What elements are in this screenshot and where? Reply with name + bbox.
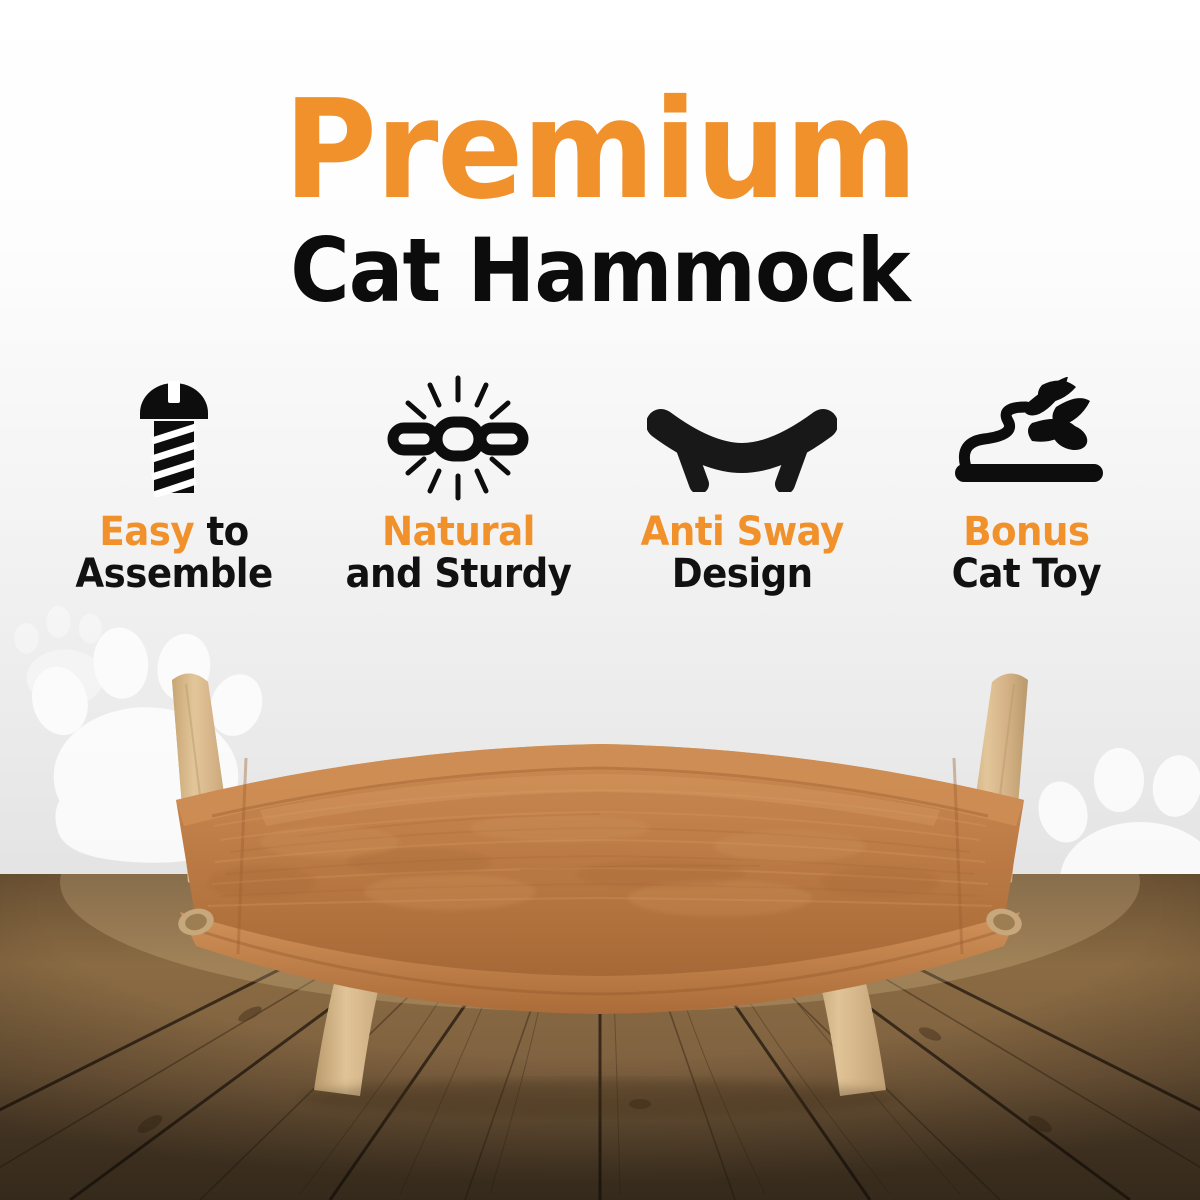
feature-label-rest: to bbox=[194, 509, 249, 555]
hammock-sling-icon bbox=[647, 378, 837, 498]
cat-teaser-wand-icon bbox=[946, 378, 1106, 498]
feature-label-line1: Natural and Sturdy bbox=[345, 512, 571, 595]
page-title-primary: Premium bbox=[42, 86, 1158, 216]
feature-label-line2: Design bbox=[640, 554, 843, 596]
feature-label-accent: Anti Sway bbox=[640, 509, 843, 555]
feature-natural-and-sturdy: Natural and Sturdy bbox=[324, 378, 592, 595]
feature-label-accent: Bonus bbox=[963, 509, 1089, 555]
page-title-secondary: Cat Hammock bbox=[48, 228, 1152, 314]
feature-bonus-cat-toy: Bonus Cat Toy bbox=[892, 378, 1160, 595]
product-marketing-image: Premium Cat Hammock E bbox=[0, 0, 1200, 1200]
hammock-fabric bbox=[176, 744, 1024, 1014]
cat-hammock-product bbox=[0, 630, 1200, 1130]
feature-easy-to-assemble: Easy to Assemble bbox=[40, 378, 308, 595]
feature-label-accent: Natural bbox=[382, 509, 535, 555]
feature-row: Easy to Assemble bbox=[40, 378, 1160, 595]
feature-label-line2: Assemble bbox=[75, 554, 272, 596]
chain-shine-icon bbox=[383, 378, 533, 498]
screw-icon bbox=[132, 378, 216, 498]
feature-label-line1: Anti Sway Design bbox=[640, 512, 843, 595]
feature-label-line1: Easy to Assemble bbox=[75, 512, 272, 595]
headline-block: Premium Cat Hammock bbox=[0, 86, 1200, 314]
feature-label-line2: and Sturdy bbox=[345, 554, 571, 596]
feature-label-accent: Easy bbox=[99, 509, 194, 555]
feature-label-line2: Cat Toy bbox=[951, 554, 1100, 596]
feature-label-line1: Bonus Cat Toy bbox=[951, 512, 1100, 595]
feature-anti-sway-design: Anti Sway Design bbox=[608, 378, 876, 595]
